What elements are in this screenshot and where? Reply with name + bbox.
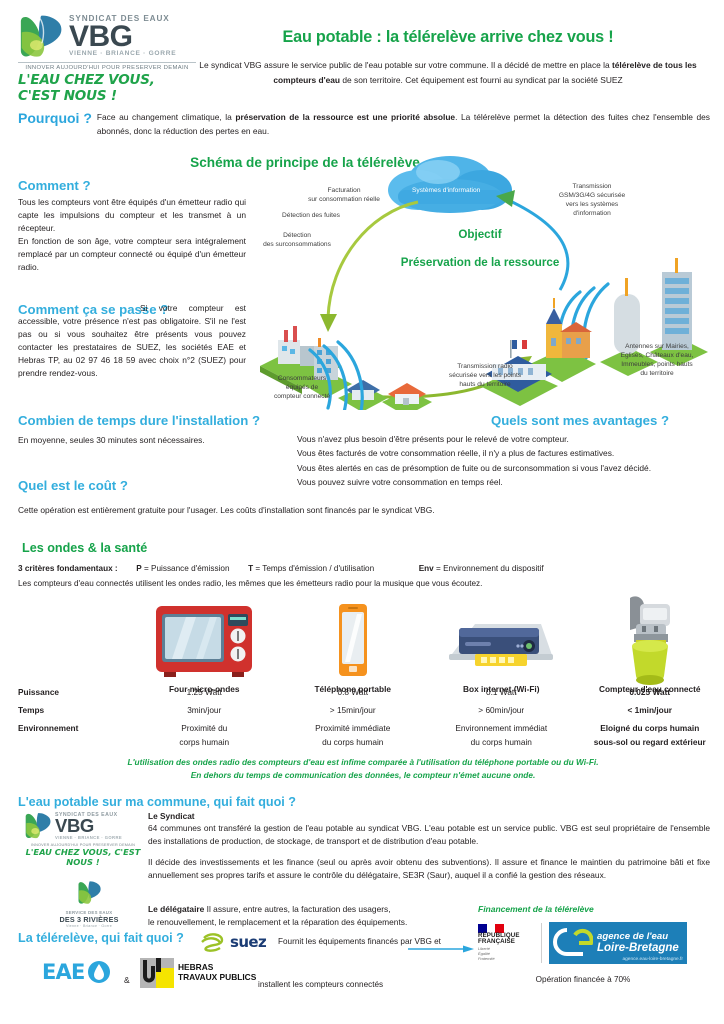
mobile-phone-icon — [331, 598, 375, 680]
syndicat-title: Le Syndicat — [148, 811, 195, 821]
eae-droplet-icon — [87, 960, 111, 984]
comment-passe-text: Si votre compteur est accessible, votre … — [18, 302, 246, 380]
diagram-label-facturation: Facturation sur consommation réelle — [296, 187, 392, 205]
comment-heading: Comment ? — [18, 178, 91, 193]
ondes-note-line-2: En dehors du temps de communication des … — [18, 769, 708, 782]
eae-label: EAE — [42, 960, 85, 984]
devise-line-3: Fraternité — [478, 957, 534, 962]
criteria-def-env: = Environnement du dispositif — [436, 564, 544, 573]
diagram-label-gsm: Transmission GSM/3G/4G sécurisée vers le… — [545, 183, 639, 219]
ampersand-label: & — [124, 975, 130, 985]
suez-label: suez — [230, 933, 266, 951]
hebras-symbol-icon — [140, 958, 174, 988]
table-column: 0.025 Watt < 1min/jour Eloigné du corps … — [576, 688, 724, 756]
hebras-logo: HEBRAS TRAVAUX PUBLICS — [140, 958, 256, 988]
logo-3-rivieres: SERVICE DES EAUX DES 3 RIVIÈRES Vienne ·… — [52, 880, 126, 928]
cell-temps: > 60min/jour — [427, 706, 576, 714]
agence-line-2: Loire-Bretagne — [597, 942, 679, 954]
device-column: Box internet (Wi-Fi) — [427, 598, 576, 694]
device-column: Téléphone portable — [279, 598, 428, 694]
ondes-heading: Les ondes & la santé — [22, 541, 147, 555]
telereleve-qui-heading: La télérelève, qui fait quoi ? — [18, 931, 184, 945]
financement-heading: Financement de la télérelève — [478, 904, 594, 914]
agence-url: agence.eau-loire-bretagne.fr — [622, 957, 683, 962]
cout-heading: Quel est le coût ? — [18, 478, 128, 493]
install-description: installent les compteurs connectés — [258, 980, 383, 989]
ondes-subtext: Les compteurs d'eau connectés utilisent … — [18, 579, 708, 588]
logo-divider — [541, 923, 542, 963]
vbg-small-name: VBG — [55, 818, 122, 835]
criteria-label: 3 critères fondamentaux : — [18, 564, 118, 573]
comment-text: Tous les compteurs vont être équipés d'u… — [18, 196, 246, 274]
criteria-def-t: = Temps d'émission / d'utilisation — [255, 564, 374, 573]
logo-3r-line2: DES 3 RIVIÈRES — [52, 915, 126, 924]
pourquoi-text-bold: préservation de la ressource est une pri… — [235, 112, 455, 122]
republique-francaise-logo: RÉPUBLIQUE FRANÇAISE Liberté Égalité Fra… — [478, 924, 534, 962]
syndicat-paragraph-1: 64 communes ont transféré la gestion de … — [148, 822, 710, 848]
vbg-leaf-icon-small — [24, 812, 52, 839]
arrow-right-icon — [408, 945, 474, 953]
delegataire-title: Le délégataire — [148, 904, 204, 914]
logo-3r-line3: Vienne · Briance · Gorre — [52, 924, 126, 928]
cout-text: Cette opération est entièrement gratuite… — [18, 504, 618, 517]
table-column: 0.1 Watt > 60min/jour Environnement immé… — [427, 688, 576, 756]
diagram-label-surconsommations: Détection des surconsommations — [242, 232, 352, 250]
financement-note: Opération financée à 70% — [478, 975, 688, 984]
vbg-logo-name: VBG — [69, 23, 176, 51]
cell-puissance: 0.025 Watt — [576, 688, 724, 696]
republique-line-2: FRANÇAISE — [478, 939, 534, 946]
row-label-environnement: Environnement — [18, 724, 78, 732]
vbg-logo-tagline: INNOVER AUJOURD'HUI POUR PRESERVER DEMAI… — [18, 62, 196, 71]
table-column: 0.8 Watt > 15min/jour Proximité immédiat… — [279, 688, 428, 756]
table-values: 1.25 Watt 3min/jour Proximité du corps h… — [130, 688, 724, 756]
diagram-label-fuites: Détection des fuites — [256, 212, 366, 221]
diagram-label-transmission-radio: Transmission radio sécurisée vers les po… — [430, 363, 540, 390]
syndicat-paragraph-2: Il décide des investissements et les fin… — [148, 856, 710, 882]
intro-text-1: Le syndicat VBG assure le service public… — [199, 60, 612, 70]
flyer-page: SYNDICAT DES EAUX VBG VIENNE · BRIANCE ·… — [0, 0, 724, 1024]
table-row-labels: Puissance Temps Environnement — [18, 688, 78, 741]
cell-environnement-1: Proximité immédiate — [279, 724, 428, 732]
cell-puissance: 1.25 Watt — [130, 688, 279, 696]
vbg-small-subtitle-bottom: VIENNE · BRIANCE · GORRE — [55, 835, 122, 840]
vbg-logo-subtitle-bottom: VIENNE · BRIANCE · GORRE — [69, 51, 176, 58]
criteria-symbol-p: P — [136, 564, 141, 573]
intro-paragraph: Le syndicat VBG assure le service public… — [186, 58, 710, 87]
avantages-list: Vous n'avez plus besoin d'être présents … — [297, 432, 712, 490]
diagram-label-antennes: Antennes sur Mairies, Eglises, Châteaux … — [604, 343, 710, 379]
vbg-logo-slogan: L'EAU CHEZ VOUS, C'EST NOUS ! — [18, 72, 198, 104]
pourquoi-text: Face au changement climatique, la préser… — [18, 110, 710, 139]
cell-puissance: 0.1 Watt — [427, 688, 576, 696]
microwave-oven-icon — [154, 598, 254, 680]
cell-environnement-1: Environnement immédiat — [427, 724, 576, 732]
avantage-item: Vous êtes alertés en cas de présomption … — [297, 461, 712, 475]
cloud-label: Systèmes d'information — [412, 187, 480, 194]
agence-eau-logo: agence de l'eau Loire-Bretagne agence.ea… — [549, 922, 687, 964]
agence-line-1: agence de l'eau — [597, 932, 679, 942]
financement-logos: RÉPUBLIQUE FRANÇAISE Liberté Égalité Fra… — [478, 922, 687, 964]
intro-text-2: de son territoire. Cet équipement est fo… — [340, 75, 623, 85]
suez-logo: suez — [200, 932, 266, 952]
pourquoi-section: Pourquoi ? Face au changement climatique… — [18, 110, 710, 139]
device-columns: Four micro-ondes Téléphone portable — [130, 598, 724, 694]
ondes-note-line-1: L'utilisation des ondes radio des compte… — [18, 756, 708, 769]
cell-environnement-1: Proximité du — [130, 724, 279, 732]
header: SYNDICAT DES EAUX VBG VIENNE · BRIANCE ·… — [0, 0, 724, 108]
cell-puissance: 0.8 Watt — [279, 688, 428, 696]
cell-environnement-2: du corps humain — [427, 738, 576, 746]
device-column: Four micro-ondes — [130, 598, 279, 694]
commune-heading: L'eau potable sur ma commune, qui fait q… — [18, 795, 296, 809]
vbg-small-tagline: INNOVER AUJOURD'HUI POUR PRESERVER DEMAI… — [24, 842, 142, 847]
avantage-item: Vous pouvez suivre votre consommation en… — [297, 475, 712, 489]
avantage-item: Vous n'avez plus besoin d'être présents … — [297, 432, 712, 446]
diagram-label-consommateurs: Consommateurs équipés de compteur connec… — [248, 375, 356, 402]
vbg-logo: SYNDICAT DES EAUX VBG VIENNE · BRIANCE ·… — [18, 14, 198, 104]
pourquoi-text-1: Face au changement climatique, la — [97, 112, 236, 122]
objective-title: Objectif — [380, 228, 580, 241]
duree-heading: Combien de temps dure l'installation ? — [18, 413, 260, 428]
row-label-puissance: Puissance — [18, 688, 78, 696]
page-title: Eau potable : la télérelève arrive chez … — [186, 28, 710, 47]
criteria-symbol-t: T — [248, 564, 253, 573]
row-label-temps: Temps — [18, 706, 78, 714]
table-column: 1.25 Watt 3min/jour Proximité du corps h… — [130, 688, 279, 756]
eae-logo: EAE — [42, 960, 111, 984]
criteria-row: 3 critères fondamentaux : P = Puissance … — [18, 564, 708, 573]
cell-environnement-1: Eloigné du corps humain — [576, 724, 724, 732]
cell-temps: > 15min/jour — [279, 706, 428, 714]
cell-temps: < 1min/jour — [576, 706, 724, 714]
vbg-logo-small: SYNDICAT DES EAUX VBG VIENNE · BRIANCE ·… — [24, 812, 142, 867]
pourquoi-heading: Pourquoi ? — [18, 110, 92, 126]
vbg-leaf-icon — [18, 14, 64, 58]
water-meter-icon — [610, 598, 690, 680]
agence-eau-symbol-icon — [553, 926, 593, 960]
device-column: Compteur d'eau connecté — [576, 598, 724, 694]
cell-environnement-2: du corps humain — [279, 738, 428, 746]
3-rivieres-leaf-icon — [77, 880, 102, 905]
hebras-line-2: TRAVAUX PUBLICS — [178, 973, 256, 983]
cell-temps: 3min/jour — [130, 706, 279, 714]
ondes-note: L'utilisation des ondes radio des compte… — [18, 756, 708, 782]
cell-environnement-2: sous-sol ou regard extérieur — [576, 738, 724, 746]
duree-text: En moyenne, seules 30 minutes sont néces… — [18, 434, 298, 447]
objective-text: Préservation de la ressource — [340, 256, 620, 269]
cell-environnement-2: corps humain — [130, 738, 279, 746]
criteria-symbol-env: Env — [419, 564, 434, 573]
suez-symbol-icon — [200, 932, 226, 952]
vbg-small-slogan: L'EAU CHEZ VOUS, C'EST NOUS ! — [24, 847, 142, 867]
avantages-heading: Quels sont mes avantages ? — [450, 413, 710, 428]
avantage-item: Vous êtes facturés de votre consommation… — [297, 446, 712, 460]
internet-box-icon — [445, 598, 557, 680]
criteria-def-p: = Puissance d'émission — [144, 564, 230, 573]
